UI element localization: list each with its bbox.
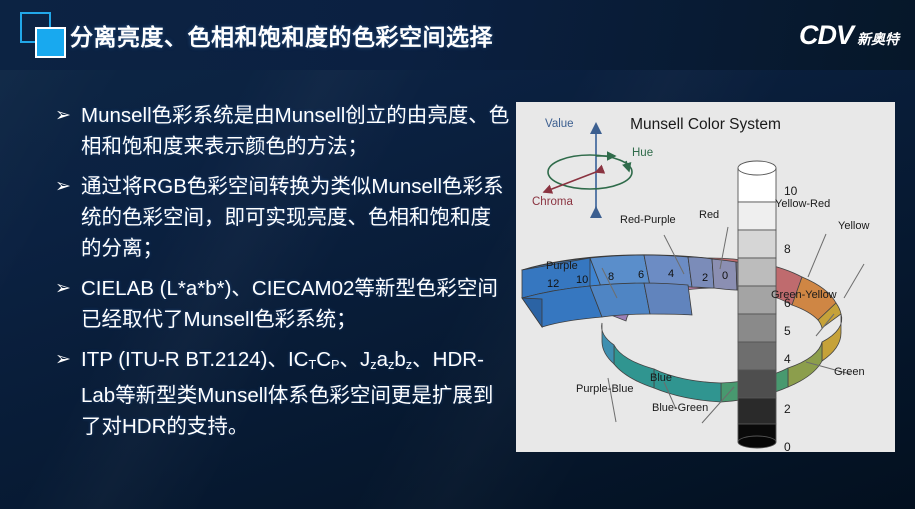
two-squares-icon xyxy=(18,10,70,60)
value-tick-2: 2 xyxy=(784,402,791,416)
bullet-itp-hdr: ITP (ITU-R BT.2124)、ICTCP、Jzazbz、HDR-Lab… xyxy=(81,344,510,442)
square-filled-shape xyxy=(35,27,66,58)
slide-header: 分离亮度、色相和饱和度的色彩空间选择 CDV 新奥特 xyxy=(0,0,915,70)
slide-canvas: 分离亮度、色相和饱和度的色彩空间选择 CDV 新奥特 ➢ Munsell色彩系统… xyxy=(0,0,915,509)
hue-label-blue: Blue xyxy=(650,372,672,384)
chroma-tick-10: 10 xyxy=(576,274,588,286)
hue-label-red-purple: Red-Purple xyxy=(620,214,676,226)
list-item: ➢ Munsell色彩系统是由Munsell创立的由亮度、色相和饱和度来表示颜色… xyxy=(55,100,510,162)
hue-label-yellow-red: Yellow-Red xyxy=(775,198,830,210)
chroma-tick-8: 8 xyxy=(608,271,614,283)
value-cylinder xyxy=(738,161,776,448)
hue-label-blue-green: Blue-Green xyxy=(652,402,708,414)
hue-label-red: Red xyxy=(699,209,719,221)
bullet-cielab: CIELAB (L*a*b*)、CIECAM02等新型色彩空间已经取代了Muns… xyxy=(81,273,510,335)
list-item: ➢ 通过将RGB色彩空间转换为类似Munsell色彩系统的色彩空间，即可实现亮度… xyxy=(55,171,510,264)
chroma-tick-4: 4 xyxy=(668,268,674,280)
hue-label-yellow: Yellow xyxy=(838,220,869,232)
value-tick-4: 4 xyxy=(784,352,791,366)
munsell-diagram-panel: Munsell Color System Value Hue Chrom xyxy=(516,102,895,452)
list-item: ➢ CIELAB (L*a*b*)、CIECAM02等新型色彩空间已经取代了Mu… xyxy=(55,273,510,335)
chroma-tick-2: 2 xyxy=(702,272,708,284)
brand-logo: CDV 新奥特 xyxy=(799,20,899,51)
arrow-bullet-icon: ➢ xyxy=(55,100,81,162)
hue-label-purple: Purple xyxy=(546,260,578,272)
arrow-bullet-icon: ➢ xyxy=(55,344,81,442)
hue-label-purple-blue: Purple-Blue xyxy=(576,383,633,395)
brand-name: CDV xyxy=(799,20,853,51)
chroma-tick-6: 6 xyxy=(638,269,644,281)
bullet-list: ➢ Munsell色彩系统是由Munsell创立的由亮度、色相和饱和度来表示颜色… xyxy=(55,100,510,451)
value-tick-0: 0 xyxy=(784,440,791,454)
bullet-rgb-convert: 通过将RGB色彩空间转换为类似Munsell色彩系统的色彩空间，即可实现亮度、色… xyxy=(81,171,510,264)
value-tick-5: 5 xyxy=(784,324,791,338)
value-tick-10: 10 xyxy=(784,184,797,198)
bullet-munsell-intro: Munsell色彩系统是由Munsell创立的由亮度、色相和饱和度来表示颜色的方… xyxy=(81,100,510,162)
page-title: 分离亮度、色相和饱和度的色彩空间选择 xyxy=(70,18,493,52)
hue-label-green: Green xyxy=(834,366,865,378)
arrow-bullet-icon: ➢ xyxy=(55,273,81,335)
chroma-tick-0: 0 xyxy=(722,270,728,282)
arrow-bullet-icon: ➢ xyxy=(55,171,81,264)
chroma-tick-12: 12 xyxy=(547,278,559,290)
value-tick-6: 6 xyxy=(784,296,791,310)
brand-name-chinese: 新奥特 xyxy=(857,29,899,49)
value-tick-8: 8 xyxy=(784,242,791,256)
list-item: ➢ ITP (ITU-R BT.2124)、ICTCP、Jzazbz、HDR-L… xyxy=(55,344,510,442)
hue-label-green-yellow: Green-Yellow xyxy=(771,289,837,301)
